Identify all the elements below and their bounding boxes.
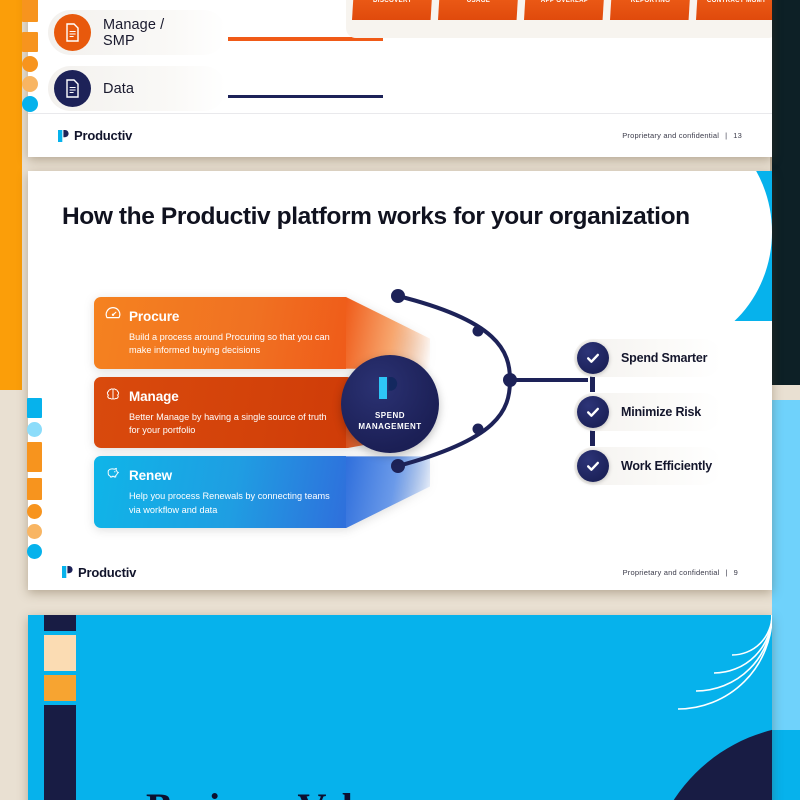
slide-bottom-title: Business Value xyxy=(146,784,391,800)
deco-block-orange xyxy=(44,675,76,701)
card-title: Renew xyxy=(129,468,172,483)
deco-square-orange-1 xyxy=(22,0,38,22)
slide-main-footer: Productiv Proprietary and confidential |… xyxy=(28,554,772,590)
deco-square-orange-2 xyxy=(22,32,38,52)
capability-block-discovery[interactable]: DISCOVERY xyxy=(352,0,433,20)
slide-business-value-title[interactable]: Business Value xyxy=(28,615,772,800)
deco-block-navy-bottom xyxy=(44,705,76,800)
gallery-left-orange-strip xyxy=(0,0,22,390)
check-icon xyxy=(577,342,609,374)
process-card-renew[interactable]: Renew Help you process Renewals by conne… xyxy=(94,456,349,528)
gallery-right-lightblue-slide[interactable] xyxy=(772,400,800,730)
outcome-label: Work Efficiently xyxy=(621,459,712,473)
confidential-label: Proprietary and confidential xyxy=(623,568,720,577)
slide-platform-architecture[interactable]: Manage / SMP Data ORGANIZATIONAL CONTEXT… xyxy=(28,0,772,157)
card-tail-renew xyxy=(346,456,430,528)
productiv-logo-icon xyxy=(379,375,401,406)
slide-top-row-list: Manage / SMP Data xyxy=(48,10,226,122)
page-title: How the Productiv platform works for you… xyxy=(62,203,690,231)
deco-square-cyan-2 xyxy=(27,398,42,418)
deco-quarter-circle-navy xyxy=(647,725,772,800)
slide-top-row-manage[interactable]: Manage / SMP xyxy=(48,10,226,55)
connector-line-navy xyxy=(228,95,383,98)
deco-square-orange-3 xyxy=(27,442,42,472)
slide-top-footer: Productiv Proprietary and confidential |… xyxy=(28,113,772,157)
capability-block-usage[interactable]: USAGE xyxy=(438,0,519,20)
outcome-work-efficiently[interactable]: Work Efficiently xyxy=(574,447,722,485)
page-number: 9 xyxy=(734,568,738,577)
deco-block-peach xyxy=(44,635,76,671)
deco-circle-orange-1 xyxy=(22,56,38,72)
deco-circle-orange-light xyxy=(22,76,38,92)
productiv-logo: Productiv xyxy=(58,128,132,143)
deco-circle-cyan-2 xyxy=(27,544,42,559)
gallery-right-cyan-slide[interactable] xyxy=(772,730,800,800)
footer-separator: | xyxy=(725,568,727,577)
footer-separator: | xyxy=(725,131,727,140)
card-title: Procure xyxy=(129,309,179,324)
slide-top-row-label: Manage / SMP xyxy=(103,17,198,49)
outcome-label: Spend Smarter xyxy=(621,351,707,365)
capability-block-contract-mgmt[interactable]: CONTRACT MGMT xyxy=(696,0,772,20)
process-card-procure[interactable]: Procure Build a process around Procuring… xyxy=(94,297,349,369)
capability-block-reporting[interactable]: REPORTING xyxy=(610,0,691,20)
corner-decoration-cyan xyxy=(612,171,772,321)
slide-top-row-label: Data xyxy=(103,81,134,97)
deco-circle-cyan-1 xyxy=(22,96,38,112)
slide-top-row-data[interactable]: Data xyxy=(48,66,226,111)
brand-name: Productiv xyxy=(74,128,132,143)
deco-circle-lightcyan xyxy=(27,422,42,437)
card-description: Better Manage by having a single source … xyxy=(105,411,334,438)
process-card-list: Procure Build a process around Procuring… xyxy=(94,297,349,536)
card-description: Build a process around Procuring so that… xyxy=(105,331,334,358)
outcome-spend-smarter[interactable]: Spend Smarter xyxy=(574,339,722,377)
spend-management-hub[interactable]: SPEND MANAGEMENT xyxy=(341,355,439,453)
card-title: Manage xyxy=(129,389,179,404)
deco-circle-orange-2 xyxy=(27,504,42,519)
page-number: 13 xyxy=(733,131,742,140)
check-icon xyxy=(577,450,609,482)
brand-name: Productiv xyxy=(78,565,136,580)
deco-block-navy-top xyxy=(44,615,76,631)
outcome-minimize-risk[interactable]: Minimize Risk xyxy=(574,393,722,431)
hub-label-line1: SPEND xyxy=(375,411,405,422)
confidential-label: Proprietary and confidential xyxy=(622,131,719,140)
outcome-list: Spend Smarter Minimize Risk Work Efficie… xyxy=(574,339,722,501)
capability-block-app-overlap[interactable]: APP OVERLAP xyxy=(524,0,605,20)
gallery-right-dark-slide[interactable] xyxy=(770,0,800,385)
productiv-logo: Productiv xyxy=(62,565,136,580)
process-card-manage[interactable]: Manage Better Manage by having a single … xyxy=(94,377,349,449)
hub-label-line2: MANAGEMENT xyxy=(358,422,421,433)
outcome-label: Minimize Risk xyxy=(621,405,701,419)
deco-arc-rings xyxy=(622,615,772,735)
document-icon xyxy=(54,14,91,51)
document-icon xyxy=(54,70,91,107)
brain-icon xyxy=(105,386,121,407)
card-description: Help you process Renewals by connecting … xyxy=(105,490,334,517)
gauge-icon xyxy=(105,306,121,327)
check-icon xyxy=(577,396,609,428)
deco-square-orange-4 xyxy=(27,478,42,500)
piggy-bank-icon xyxy=(105,465,121,486)
capability-layer-stack: DISCOVERY USAGE APP OVERLAP REPORTING CO… xyxy=(352,0,772,40)
deco-circle-orange-light-2 xyxy=(27,524,42,539)
